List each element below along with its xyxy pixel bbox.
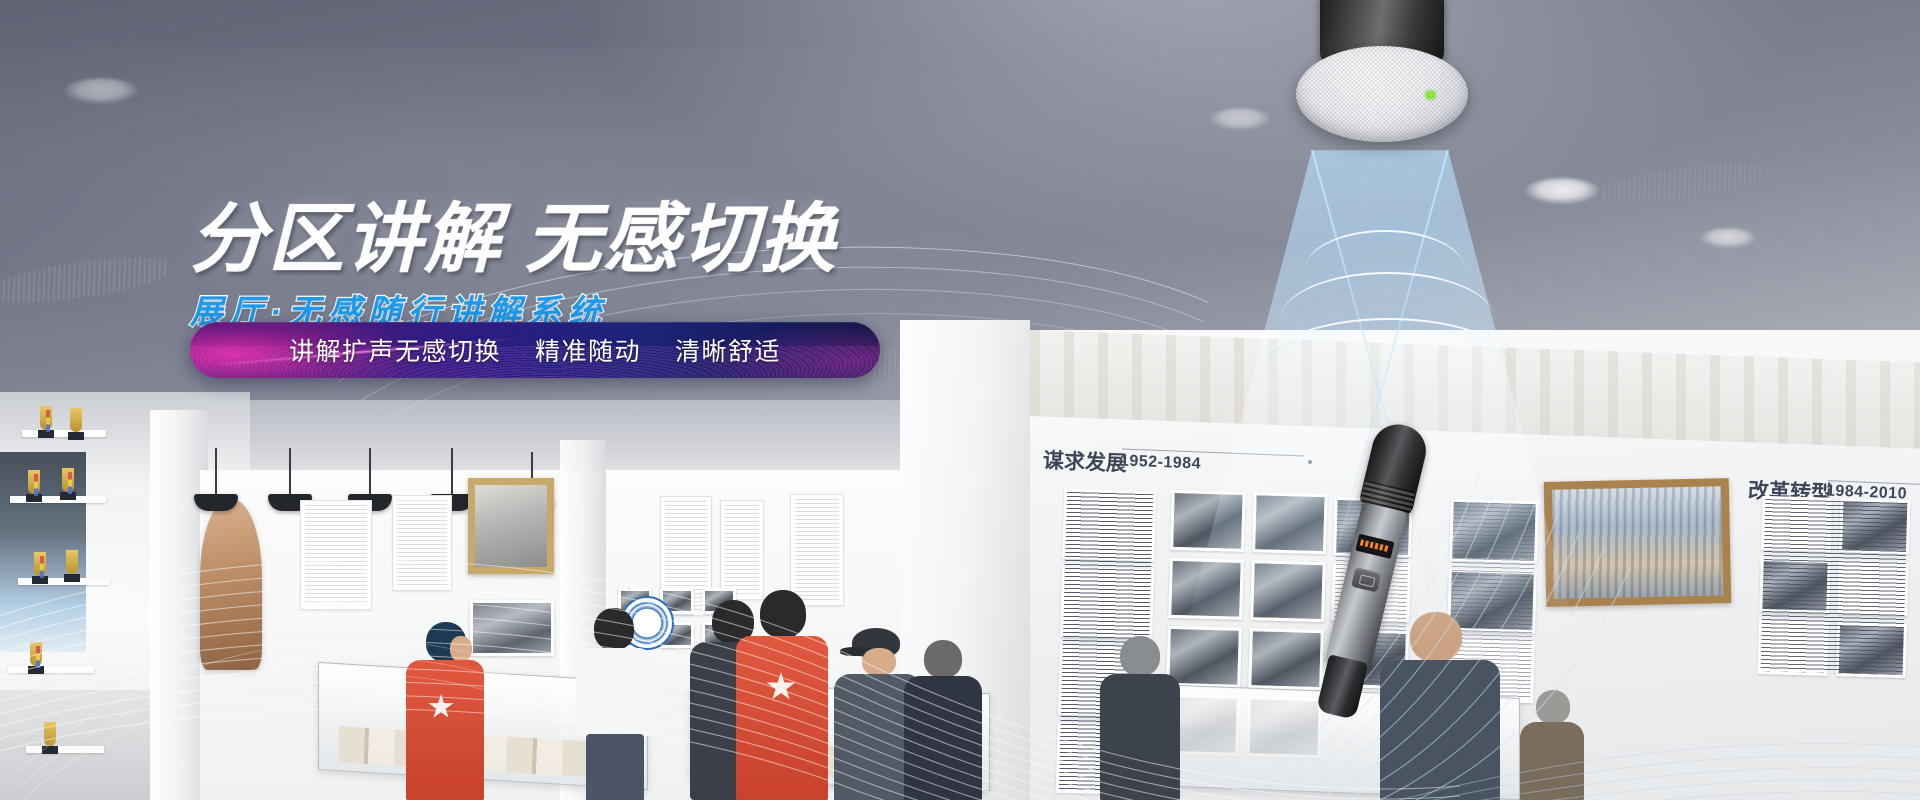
feature-item-3: 清晰舒适 [675,332,781,368]
exhibition-hall-photo: 谋求发展 1952-1984 改革转型 1984-2010 [0,0,1920,800]
visitor-person [1520,690,1584,800]
feature-pill-text: 讲解扩声无感切换 精准随动 清晰舒适 [190,332,880,368]
visitor-person [398,622,490,800]
visitor-person [904,640,982,800]
feature-item-2: 精准随动 [535,332,641,368]
feature-pill[interactable]: 讲解扩声无感切换 精准随动 清晰舒适 [190,322,880,378]
trophy-cabinet [0,430,150,800]
ceiling-downlight-icon [1525,178,1599,204]
ceiling-downlight-icon [64,78,138,104]
exhibit-statue [200,500,262,670]
speaker-grille [1296,46,1468,142]
exhibit-photo-grid [1758,496,1911,678]
banner-hero: 谋求发展 1952-1984 改革转型 1984-2010 [0,0,1920,800]
microphone-base [1316,654,1368,720]
sound-wave-arc [1258,318,1520,428]
ceiling-downlight-icon [1210,108,1270,130]
visitor-person [1100,636,1180,800]
feature-item-1: 讲解扩声无感切换 [289,332,501,368]
ceiling-downlight-icon [1700,228,1756,248]
banner-text-block: 分区讲解 无感切换 展厅·无感随行讲解系统 讲解扩声无感切换 精准随动 清晰舒适 [190,200,1090,333]
ceiling-speaker [1296,0,1468,144]
speaker-led-indicator [1424,90,1437,100]
exhibit-painting [1544,478,1732,607]
banner-headline: 分区讲解 无感切换 [190,200,1090,279]
